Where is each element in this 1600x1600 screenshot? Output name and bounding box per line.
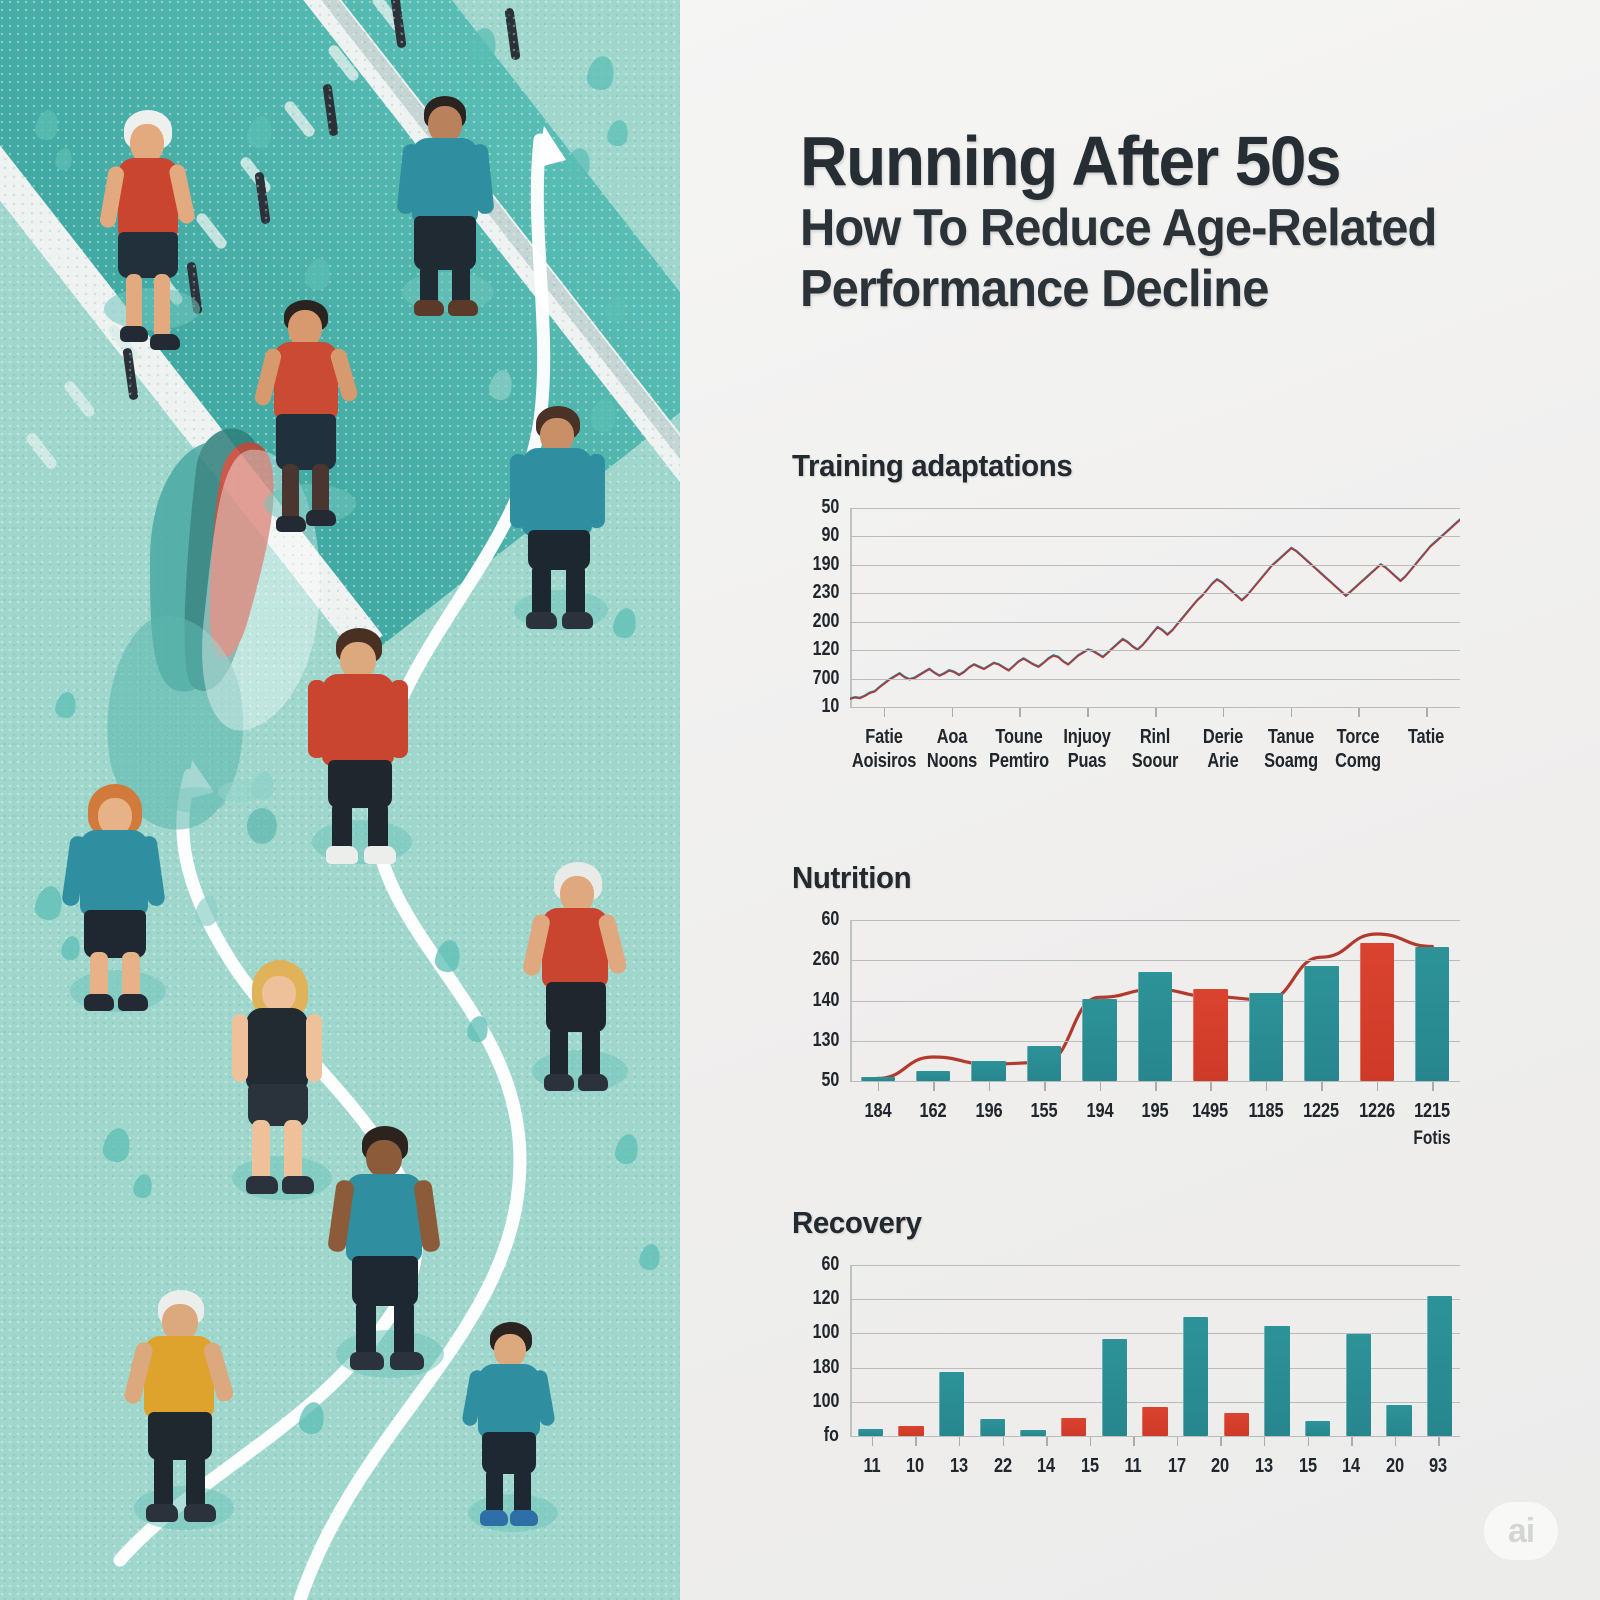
bar-recovery <box>980 1419 1005 1436</box>
x-tick-recovery: 11 <box>1125 1454 1142 1478</box>
x-tick-training: Toune Pemtiro <box>989 725 1049 774</box>
tick-mark <box>959 1437 961 1446</box>
page-subtitle-line2: Performance Decline <box>800 262 1496 317</box>
chart-nutrition: 6026014013050184162196155194195149511851… <box>792 920 1532 1082</box>
chart-title-training: Training adaptations <box>792 448 1495 484</box>
tick-mark <box>1266 1082 1268 1091</box>
tick-mark <box>1133 1437 1135 1446</box>
y-tick-nutrition: 60 <box>821 908 839 931</box>
y-tick-nutrition: 50 <box>821 1069 839 1092</box>
gridline-training <box>850 508 1460 509</box>
bar-recovery <box>939 1372 964 1437</box>
tick-mark <box>1210 1082 1212 1091</box>
x-tick-nutrition: 1185 <box>1248 1099 1283 1123</box>
x-tick-nutrition: 194 <box>1086 1099 1113 1123</box>
bar-recovery <box>1183 1317 1208 1436</box>
x-tick-nutrition: 184 <box>864 1099 891 1123</box>
y-tick-recovery: 60 <box>821 1253 839 1276</box>
bar-recovery <box>1102 1339 1127 1436</box>
tick-mark <box>1377 1082 1379 1091</box>
x-tick-training: Aoa Noons <box>927 725 977 774</box>
tick-mark <box>1087 708 1089 717</box>
x-tick-nutrition: 196 <box>975 1099 1002 1123</box>
y-tick-training: 200 <box>812 610 839 633</box>
bar-recovery <box>858 1429 883 1436</box>
gridline-recovery <box>850 1436 1460 1437</box>
y-tick-training: 190 <box>812 553 839 576</box>
x-tick-nutrition: 1495 <box>1193 1099 1229 1123</box>
y-tick-recovery: 100 <box>812 1390 839 1413</box>
content-panel: Running After 50s How To Reduce Age-Rela… <box>680 0 1600 1600</box>
x-tick-recovery: 17 <box>1168 1454 1186 1478</box>
bar-recovery <box>1264 1326 1289 1436</box>
plot-area-recovery: 60120100180100fo111013221415111720131514… <box>850 1265 1460 1437</box>
tick-mark <box>1090 1437 1092 1446</box>
runner-teal-longsleeve <box>394 96 504 316</box>
y-tick-training: 10 <box>821 695 839 718</box>
x-tick-recovery: 11 <box>863 1454 880 1478</box>
bar-nutrition <box>1360 943 1394 1081</box>
bar-recovery <box>1346 1334 1371 1436</box>
y-tick-recovery: 180 <box>812 1356 839 1379</box>
y-tick-nutrition: 140 <box>812 989 839 1012</box>
bar-recovery <box>1020 1430 1045 1436</box>
ai-watermark-badge: ai <box>1484 1502 1558 1560</box>
bar-nutrition <box>1304 966 1338 1081</box>
x-tick-nutrition: 1226 <box>1359 1099 1395 1123</box>
x-tick-nutrition: 155 <box>1031 1099 1058 1123</box>
x-tick-training: Fatie Aoisiros <box>852 725 916 774</box>
bar-nutrition <box>861 1077 895 1081</box>
gridline-training <box>850 679 1460 680</box>
tick-mark <box>1308 1437 1310 1446</box>
y-tick-recovery: 100 <box>812 1321 839 1344</box>
tick-mark <box>1155 1082 1157 1091</box>
plot-area-training: 509019023020012070010Fatie AoisirosAoa N… <box>850 508 1460 708</box>
bar-recovery <box>1224 1413 1249 1436</box>
bar-recovery <box>1142 1407 1167 1436</box>
x-tick-recovery: 15 <box>1081 1454 1099 1478</box>
x-tick-nutrition: 1215 <box>1414 1099 1450 1123</box>
plot-area-nutrition: 6026014013050184162196155194195149511851… <box>850 920 1460 1082</box>
bar-nutrition <box>971 1061 1005 1082</box>
bar-nutrition <box>916 1071 950 1081</box>
runner-senior-woman-red-tank <box>96 110 216 340</box>
gridline-recovery <box>850 1299 1460 1300</box>
tick-mark <box>1264 1437 1266 1446</box>
tick-mark <box>1432 1082 1434 1091</box>
tick-mark <box>1395 1437 1397 1446</box>
chart-section-nutrition: Nutrition 602601401305018416219615519419… <box>792 860 1532 1082</box>
chart-section-training: Training adaptations 5090190230200120700… <box>792 448 1532 708</box>
x-tick-nutrition: 1225 <box>1303 1099 1339 1123</box>
x-tick-training: Torce Comg <box>1335 725 1381 774</box>
y-tick-nutrition: 130 <box>812 1029 839 1052</box>
tick-mark <box>1100 1082 1102 1091</box>
x-tick-recovery: 13 <box>1255 1454 1273 1478</box>
bar-nutrition <box>1415 947 1449 1081</box>
chart-title-nutrition: Nutrition <box>792 860 1495 896</box>
runner-red-sweater <box>306 628 422 868</box>
bar-nutrition <box>1193 989 1227 1081</box>
x-tick-training: Injuoy Puas <box>1064 725 1111 774</box>
x-tick-recovery: 93 <box>1429 1454 1447 1478</box>
ai-watermark-label: ai <box>1508 1512 1534 1551</box>
tick-mark <box>1438 1437 1440 1446</box>
tick-mark <box>915 1437 917 1446</box>
x-tick-recovery: 14 <box>1342 1454 1360 1478</box>
x-tick-recovery: 15 <box>1299 1454 1317 1478</box>
runner-woman-black-tank <box>226 960 342 1204</box>
runner-teal-tshirt <box>330 1126 452 1382</box>
bar-nutrition <box>1138 972 1172 1081</box>
x-tick-recovery: 14 <box>1037 1454 1055 1478</box>
bar-recovery <box>1305 1421 1330 1436</box>
y-tick-training: 50 <box>821 496 839 519</box>
x-tick-recovery: 22 <box>994 1454 1012 1478</box>
tick-mark <box>884 708 886 717</box>
tick-mark <box>1155 708 1157 717</box>
y-tick-training: 230 <box>812 581 839 604</box>
x-tick-training: Tatie <box>1408 725 1444 749</box>
tick-mark <box>1003 1437 1005 1446</box>
bar-recovery <box>1061 1418 1086 1436</box>
runner-senior-woman-red-shirt <box>526 862 636 1096</box>
gridline-training <box>850 593 1460 594</box>
tick-mark <box>1177 1437 1179 1446</box>
chart-section-recovery: Recovery 60120100180100fo111013221415111… <box>792 1205 1532 1437</box>
chart-training: 509019023020012070010Fatie AoisirosAoa N… <box>792 508 1532 708</box>
x-tick-recovery: 10 <box>906 1454 924 1478</box>
tick-mark <box>1358 708 1360 717</box>
infographic-page: Running After 50s How To Reduce Age-Rela… <box>0 0 1600 1600</box>
title-block: Running After 50s How To Reduce Age-Rela… <box>800 128 1540 317</box>
y-axis-recovery <box>850 1265 852 1437</box>
x-tick-recovery: 20 <box>1386 1454 1404 1478</box>
tick-mark <box>1223 708 1225 717</box>
tick-mark <box>1046 1437 1048 1446</box>
bar-recovery <box>1427 1296 1452 1436</box>
x-tick-recovery: 13 <box>950 1454 968 1478</box>
tick-mark <box>1351 1437 1353 1446</box>
gridline-training <box>850 536 1460 537</box>
x-tick-nutrition: 162 <box>920 1099 947 1123</box>
x-axis-note: Fotis <box>1414 1128 1451 1150</box>
x-tick-training: Tanue Soamg <box>1264 725 1318 774</box>
illustration-panel <box>0 0 680 1600</box>
x-tick-nutrition: 195 <box>1142 1099 1169 1123</box>
y-tick-training: 90 <box>821 524 839 547</box>
bar-recovery <box>898 1426 923 1436</box>
x-tick-recovery: 20 <box>1211 1454 1229 1478</box>
gridline-training <box>850 622 1460 623</box>
gridline-recovery <box>850 1265 1460 1266</box>
y-tick-training: 700 <box>812 667 839 690</box>
y-tick-nutrition: 260 <box>812 948 839 971</box>
tick-mark <box>878 1082 880 1091</box>
tick-mark <box>1321 1082 1323 1091</box>
runner-boy-teal-shirt <box>462 1322 566 1538</box>
tick-mark <box>933 1082 935 1091</box>
runner-red-tshirt <box>256 300 366 530</box>
runner-senior-man-yellow <box>128 1290 244 1534</box>
y-tick-recovery: fo <box>824 1424 839 1447</box>
gridline-training <box>850 565 1460 566</box>
y-tick-training: 120 <box>812 638 839 661</box>
chart-recovery: 60120100180100fo111013221415111720131514… <box>792 1265 1532 1437</box>
bar-nutrition <box>1082 999 1116 1081</box>
page-title: Running After 50s <box>800 128 1496 195</box>
runner-woman-teal-vneck <box>64 784 176 1016</box>
x-tick-training: Derie Arie <box>1203 725 1243 774</box>
x-tick-training: Rinl Soour <box>1132 725 1179 774</box>
gridline-training <box>850 650 1460 651</box>
page-subtitle-line1: How To Reduce Age-Related <box>800 201 1496 256</box>
runner-teal-hoodie <box>506 406 618 634</box>
gridline-nutrition <box>850 920 1460 921</box>
tick-mark <box>1044 1082 1046 1091</box>
bar-recovery <box>1386 1405 1411 1436</box>
tick-mark <box>872 1437 874 1446</box>
tick-mark <box>1291 708 1293 717</box>
tick-mark <box>1220 1437 1222 1446</box>
bar-nutrition <box>1027 1046 1061 1081</box>
bar-nutrition <box>1249 993 1283 1081</box>
tick-mark <box>989 1082 991 1091</box>
tick-mark <box>952 708 954 717</box>
tick-mark <box>1426 708 1428 717</box>
tick-mark <box>1019 708 1021 717</box>
y-tick-recovery: 120 <box>812 1287 839 1310</box>
chart-title-recovery: Recovery <box>792 1205 1495 1241</box>
